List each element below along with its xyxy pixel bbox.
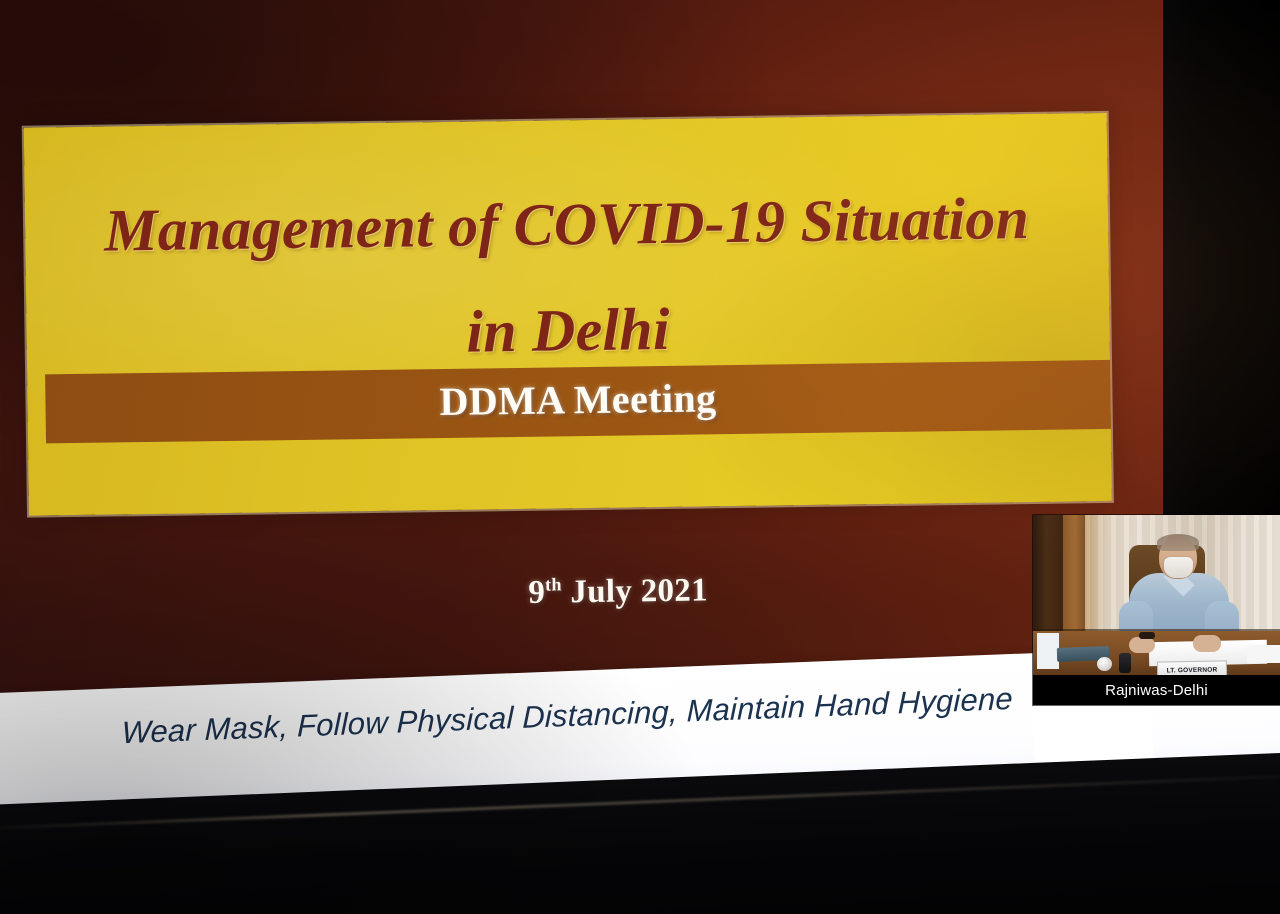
slide-date-ordinal: th xyxy=(545,574,562,594)
slide-footer-banner-text: Wear Mask, Follow Physical Distancing, M… xyxy=(121,680,1013,752)
video-person-hair xyxy=(1157,534,1199,551)
presentation-screenshot: Management of COVID-19 Situation in Delh… xyxy=(0,0,1280,914)
video-nameplate-text: LT. GOVERNOR xyxy=(1167,666,1218,674)
slide-date-rest: July 2021 xyxy=(562,572,709,610)
slide-subtitle-bar: DDMA Meeting xyxy=(45,360,1111,443)
slide-title-box: Management of COVID-19 Situation in Delh… xyxy=(24,113,1112,516)
video-person-face-mask xyxy=(1164,557,1193,578)
slide-subtitle-text: DDMA Meeting xyxy=(45,369,1111,431)
video-person-right-hand xyxy=(1193,635,1221,652)
video-desk-microphone xyxy=(1119,653,1131,673)
video-desk-card xyxy=(1037,633,1059,669)
video-desk-cup xyxy=(1097,657,1112,671)
video-person-left-hand xyxy=(1129,637,1155,653)
video-wood-panel-light xyxy=(1063,515,1085,639)
video-wood-panel-dark xyxy=(1033,515,1067,645)
video-feed-panel[interactable]: LT. GOVERNOR Rajniwas-Delhi xyxy=(1033,515,1280,705)
slide-date-day: 9 xyxy=(528,575,545,611)
video-caption-strip: Rajniwas-Delhi xyxy=(1033,675,1280,705)
slide-title-line-2: in Delhi xyxy=(26,291,1110,370)
slide-title-line-1: Management of COVID-19 Situation xyxy=(25,185,1109,264)
video-person-wristwatch xyxy=(1139,632,1155,639)
footer-banner-notch xyxy=(1033,700,1153,766)
slide-date: 9th July 2021 xyxy=(338,568,898,616)
video-desk-papers-secondary xyxy=(1247,645,1280,663)
video-caption-text: Rajniwas-Delhi xyxy=(1105,682,1208,699)
